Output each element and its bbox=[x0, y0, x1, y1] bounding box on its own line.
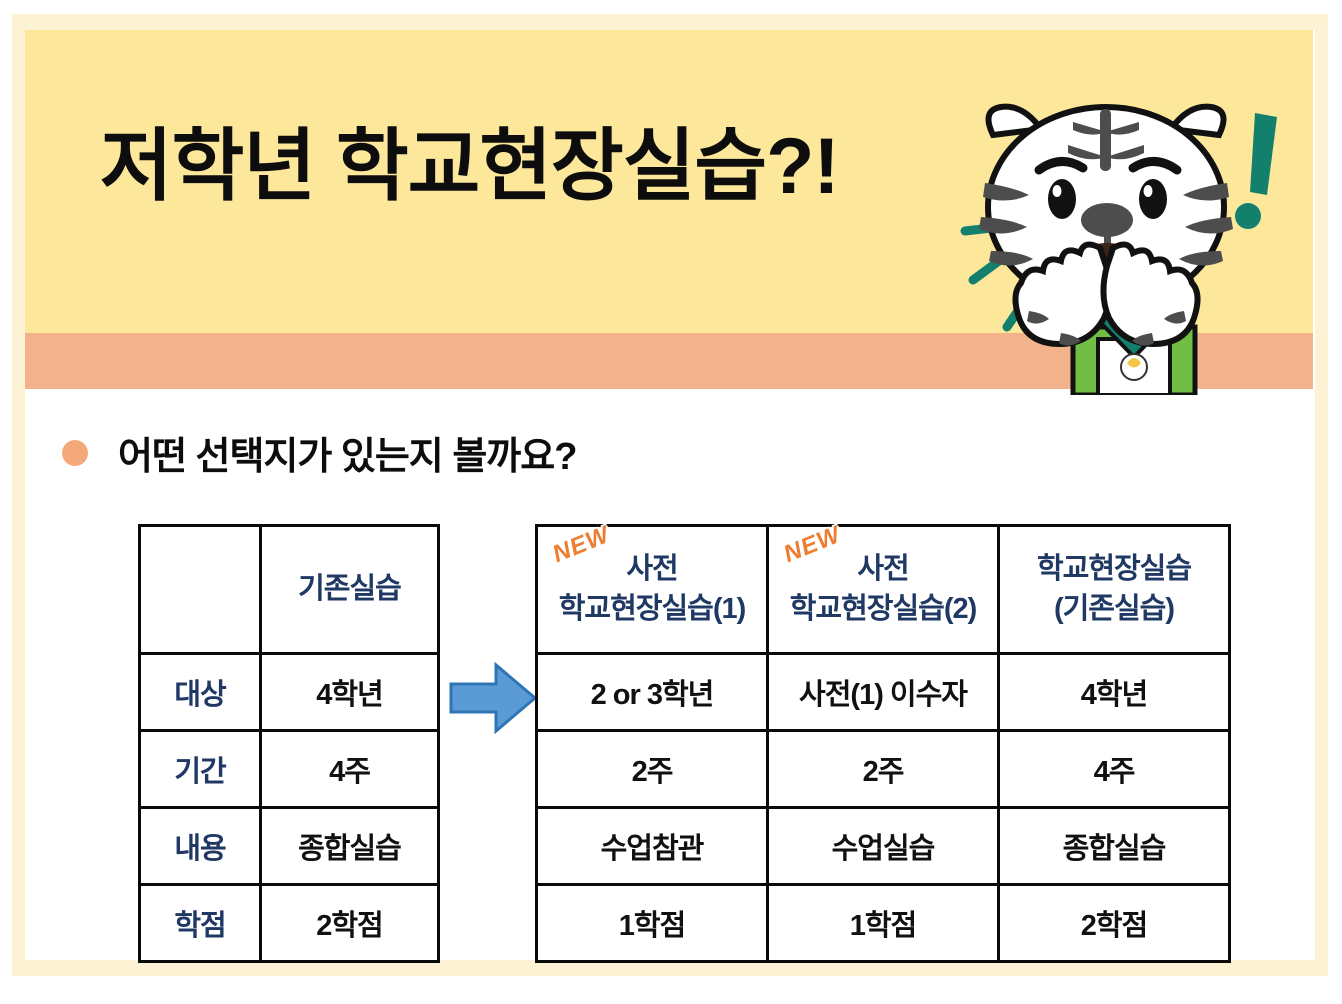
new-header-pre2-line2: 학교현장실습(2) bbox=[769, 590, 997, 629]
new-row-content-existing: 종합실습 bbox=[999, 808, 1230, 885]
new-header-existing: 학교현장실습 (기존실습) bbox=[999, 526, 1230, 654]
old-row-value-target: 4학년 bbox=[261, 654, 439, 731]
page-title: 저학년 학교현장실습?! bbox=[100, 126, 839, 205]
old-row-label-period: 기간 bbox=[140, 731, 261, 808]
new-header-pre2: NEW 사전 학교현장실습(2) bbox=[768, 526, 999, 654]
table-row: 2 or 3학년 사전(1) 이수자 4학년 bbox=[537, 654, 1230, 731]
new-practicum-table: NEW 사전 학교현장실습(1) NEW 사전 학교현장실습(2) 학교현장실습… bbox=[535, 524, 1231, 963]
table-row: 1학점 1학점 2학점 bbox=[537, 885, 1230, 962]
old-row-label-content: 내용 bbox=[140, 808, 261, 885]
new-header-existing-line2: (기존실습) bbox=[1000, 590, 1228, 629]
old-row-value-content: 종합실습 bbox=[261, 808, 439, 885]
new-row-target-pre1: 2 or 3학년 bbox=[537, 654, 768, 731]
bullet-dot-icon bbox=[62, 440, 88, 466]
existing-practicum-table: 기존실습 대상 4학년 기간 4주 내용 종합실습 학점 2학점 bbox=[138, 524, 440, 963]
old-row-value-credits: 2학점 bbox=[261, 885, 439, 962]
new-row-content-pre1: 수업참관 bbox=[537, 808, 768, 885]
old-row-label-credits: 학점 bbox=[140, 885, 261, 962]
table-row: 수업참관 수업실습 종합실습 bbox=[537, 808, 1230, 885]
exclamation-mark bbox=[1235, 113, 1277, 229]
new-header-pre1: NEW 사전 학교현장실습(1) bbox=[537, 526, 768, 654]
old-row-label-target: 대상 bbox=[140, 654, 261, 731]
new-header-pre1-line2: 학교현장실습(1) bbox=[538, 590, 766, 629]
bullet-line: 어떤 선택지가 있는지 볼까요? bbox=[62, 425, 576, 480]
old-header-empty-cell bbox=[140, 526, 261, 654]
old-row-value-period: 4주 bbox=[261, 731, 439, 808]
table-row: 내용 종합실습 bbox=[140, 808, 439, 885]
old-header-existing: 기존실습 bbox=[261, 526, 439, 654]
table-row: 2주 2주 4주 bbox=[537, 731, 1230, 808]
new-row-content-pre2: 수업실습 bbox=[768, 808, 999, 885]
table-row-header: 기존실습 bbox=[140, 526, 439, 654]
table-row: 기간 4주 bbox=[140, 731, 439, 808]
new-row-credits-pre1: 1학점 bbox=[537, 885, 768, 962]
table-row-header: NEW 사전 학교현장실습(1) NEW 사전 학교현장실습(2) 학교현장실습… bbox=[537, 526, 1230, 654]
new-row-credits-pre2: 1학점 bbox=[768, 885, 999, 962]
new-row-period-pre1: 2주 bbox=[537, 731, 768, 808]
new-row-target-existing: 4학년 bbox=[999, 654, 1230, 731]
new-row-credits-existing: 2학점 bbox=[999, 885, 1230, 962]
new-row-target-pre2: 사전(1) 이수자 bbox=[768, 654, 999, 731]
new-row-period-existing: 4주 bbox=[999, 731, 1230, 808]
table-row: 대상 4학년 bbox=[140, 654, 439, 731]
tiger-mascot-illustration bbox=[955, 95, 1295, 395]
new-header-pre2-line1: 사전 bbox=[769, 550, 997, 589]
new-header-existing-line1: 학교현장실습 bbox=[1000, 550, 1228, 589]
table-row: 학점 2학점 bbox=[140, 885, 439, 962]
slide-root: 저학년 학교현장실습?! 어떤 선택지가 있는지 볼까요? 기존실습 대상 4학… bbox=[0, 0, 1342, 1004]
bullet-text: 어떤 선택지가 있는지 볼까요? bbox=[118, 425, 576, 480]
new-header-pre1-line1: 사전 bbox=[538, 550, 766, 589]
right-arrow-icon bbox=[448, 658, 538, 738]
new-row-period-pre2: 2주 bbox=[768, 731, 999, 808]
